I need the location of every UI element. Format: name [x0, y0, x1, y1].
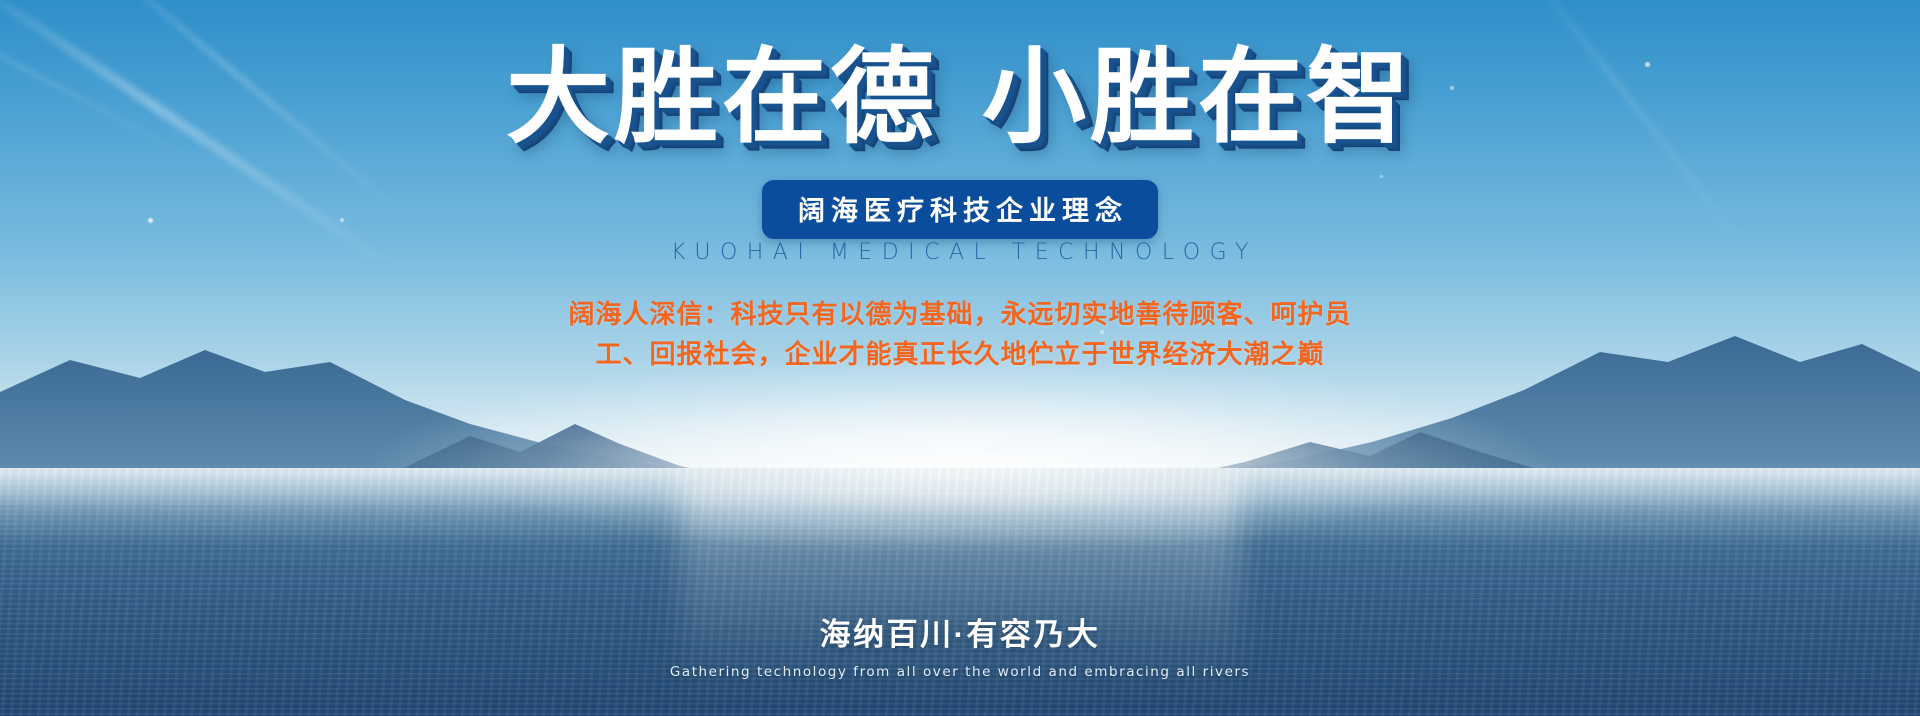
- status-badge: 阔海医疗科技企业理念: [762, 180, 1158, 239]
- hero-banner: 大胜在德小胜在智 阔海医疗科技企业理念 KUOHAI MEDICAL TECHN…: [0, 0, 1920, 716]
- company-creed: 阔海人深信：科技只有以德为基础，永远切实地善待顾客、呵护员 工、回报社会，企业才…: [0, 294, 1920, 374]
- motto-chinese: 海纳百川·有容乃大: [0, 609, 1920, 654]
- headline-left: 大胜在德: [506, 40, 938, 156]
- badge-container: 阔海医疗科技企业理念: [0, 180, 1920, 239]
- motto-english: Gathering technology from all over the w…: [0, 664, 1920, 680]
- page-title: 大胜在德小胜在智: [0, 44, 1920, 153]
- creed-line-1: 阔海人深信：科技只有以德为基础，永远切实地善待顾客、呵护员: [0, 294, 1920, 334]
- banner-content: 大胜在德小胜在智 阔海医疗科技企业理念 KUOHAI MEDICAL TECHN…: [0, 0, 1920, 716]
- creed-line-2: 工、回报社会，企业才能真正长久地伫立于世界经济大潮之巅: [0, 334, 1920, 374]
- headline-right: 小胜在智: [982, 40, 1414, 156]
- english-subtitle: KUOHAI MEDICAL TECHNOLOGY: [0, 240, 1920, 265]
